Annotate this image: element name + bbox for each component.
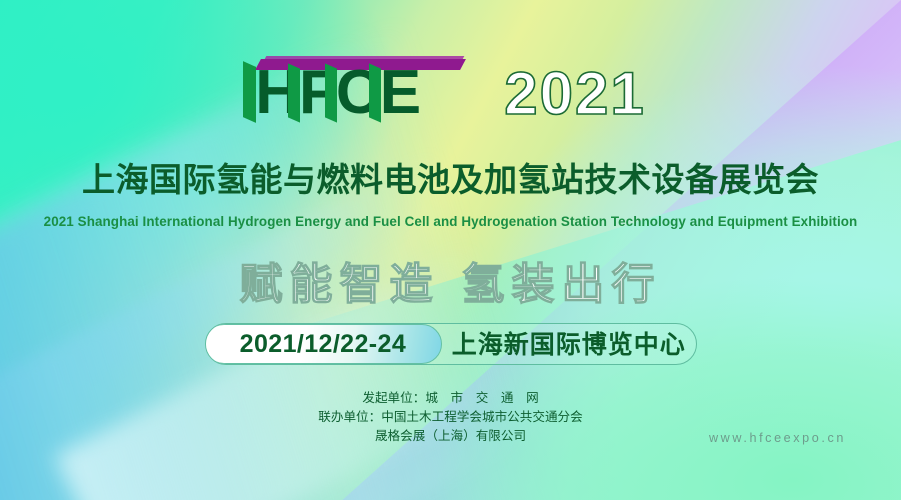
- logo-letters: H F C E: [255, 62, 470, 128]
- logo-letter-h-side: [243, 61, 256, 123]
- credit-line-coorganizer: 联办单位：中国土木工程学会城市公共交通分会: [0, 407, 901, 426]
- venue-pill: 上海新国际博览中心: [442, 324, 696, 364]
- website-url[interactable]: www.hfceexpo.cn: [709, 430, 846, 446]
- logo-row: H F C E 2021: [0, 52, 901, 128]
- logo-year: 2021: [504, 64, 645, 128]
- poster-banner: H F C E 2021: [0, 0, 901, 500]
- logo-letter-e-side: [369, 63, 381, 122]
- credit-line-organizer: 发起单位：城 市 交 通 网: [0, 388, 901, 407]
- logo-letter-e: E: [380, 62, 420, 128]
- logo-letter-f-side: [288, 63, 300, 122]
- hfce-logo-icon: H F C E: [255, 52, 470, 128]
- venue-text: 上海新国际博览中心: [452, 332, 686, 357]
- date-pill: 2021/12/22-24: [205, 324, 442, 364]
- logo-letter-c-side: [325, 63, 337, 122]
- slogan: 赋能智造 氢装出行: [0, 258, 901, 312]
- logo-letter-e-face: E: [380, 58, 420, 127]
- date-venue-bar: 2021/12/22-24 上海新国际博览中心: [205, 323, 697, 365]
- title-chinese: 上海国际氢能与燃料电池及加氢站技术设备展览会: [0, 160, 901, 200]
- title-english: 2021 Shanghai International Hydrogen Ene…: [0, 213, 901, 231]
- date-text: 2021/12/22-24: [240, 332, 406, 357]
